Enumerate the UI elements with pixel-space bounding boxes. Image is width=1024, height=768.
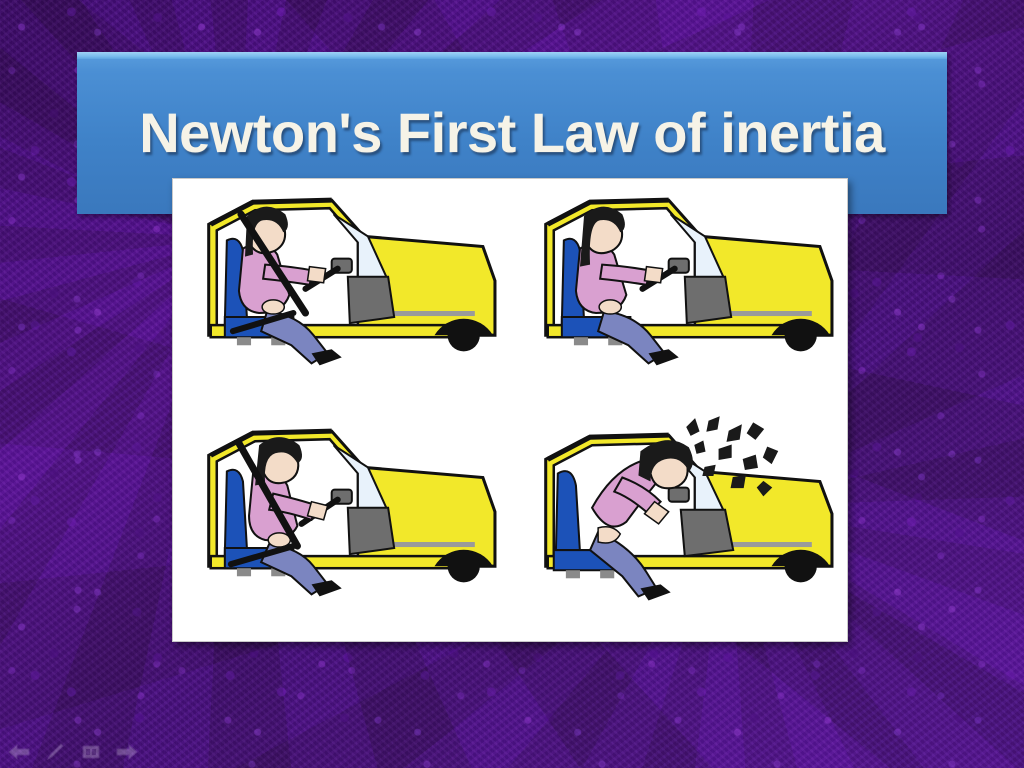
right-arrow-icon: [116, 743, 138, 761]
slide-menu-button[interactable]: [80, 742, 102, 762]
panel-unbelted-before-crash: [510, 179, 847, 410]
car-illustration-3: [208, 431, 494, 596]
left-arrow-icon: [8, 743, 30, 761]
presentation-nav-controls[interactable]: [8, 742, 138, 762]
car-illustration-4: [545, 417, 831, 600]
slide-menu-icon: [81, 744, 101, 760]
panel-grid: [173, 179, 847, 641]
pen-icon: [45, 742, 65, 762]
illustration-frame[interactable]: [172, 178, 848, 642]
previous-slide-button[interactable]: [8, 742, 30, 762]
car-illustration-2: [545, 200, 831, 365]
title-bar-highlight: [77, 52, 947, 59]
panel-belted-during-crash: [173, 410, 510, 641]
page-title: Newton's First Law of inertia: [77, 100, 947, 165]
next-slide-button[interactable]: [116, 742, 138, 762]
car-illustration-1: [208, 200, 494, 365]
panel-belted-before-crash: [173, 179, 510, 410]
panel-unbelted-during-crash: [510, 410, 847, 641]
pen-tool-button[interactable]: [44, 742, 66, 762]
